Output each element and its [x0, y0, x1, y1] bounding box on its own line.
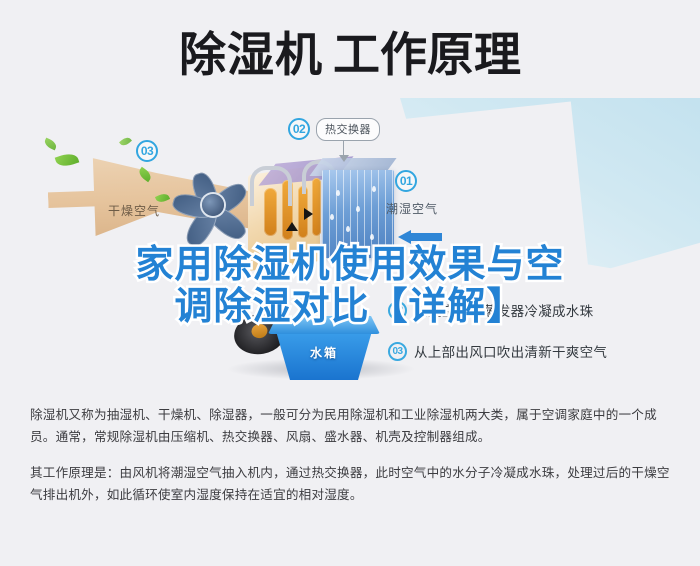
- water-droplet-icon: [356, 206, 360, 212]
- step-list: 02 潮湿空气经蒸发器冷凝成水珠 03 从上部出风口吹出清新干爽空气: [388, 300, 688, 382]
- water-droplet-icon: [372, 186, 376, 192]
- body-paragraph-1: 除湿机又称为抽湿机、干燥机、除湿器，一般可分为民用除湿机和工业除湿机两大类，属于…: [30, 404, 670, 448]
- poster-canvas: 除湿机工作原理 干燥空气: [0, 0, 700, 566]
- humid-air-label: 潮湿空气: [386, 200, 438, 217]
- air-inlet-arrow-icon: [398, 230, 442, 244]
- page-title: 除湿机工作原理: [0, 0, 700, 110]
- illustration-stage: 干燥空气: [0, 108, 700, 400]
- leaf-icon: [55, 151, 80, 169]
- fan-hub: [202, 194, 224, 216]
- step-label: 从上部出风口吹出清新干爽空气: [414, 341, 607, 361]
- water-droplet-icon: [370, 234, 374, 240]
- heat-exchanger-callout: 热交换器: [316, 118, 380, 141]
- dry-air-label: 干燥空气: [108, 202, 160, 219]
- water-tank-label: 水箱: [268, 344, 380, 361]
- badge-03: 03: [136, 140, 158, 162]
- flow-arrow-up-icon: [286, 222, 298, 231]
- title-part-one: 除湿机: [179, 28, 323, 83]
- water-droplet-icon: [346, 226, 350, 232]
- water-tank-icon: 水箱: [268, 316, 380, 382]
- title-part-two: 工作原理: [333, 28, 521, 83]
- badge-01: 01: [395, 170, 417, 192]
- step-badge: 02: [388, 301, 407, 320]
- arrow-shaft: [410, 233, 442, 241]
- article-body: 除湿机又称为抽湿机、干燥机、除湿器，一般可分为民用除湿机和工业除湿机两大类，属于…: [0, 404, 700, 506]
- title-text-group: 除湿机工作原理: [179, 32, 521, 79]
- water-droplet-icon: [336, 190, 340, 196]
- heat-exchanger-block: [312, 156, 396, 264]
- badge-02: 02: [288, 118, 310, 140]
- step-item: 02 潮湿空气经蒸发器冷凝成水珠: [388, 300, 688, 320]
- step-label: 潮湿空气经蒸发器冷凝成水珠: [414, 300, 593, 320]
- leaf-icon: [119, 135, 132, 147]
- arrow-head: [398, 230, 411, 244]
- water-droplet-icon: [330, 214, 334, 220]
- body-paragraph-2: 其工作原理是：由风机将潮湿空气抽入机内，通过热交换器，此时空气中的水分子冷凝成水…: [30, 462, 670, 506]
- leaf-icon: [43, 138, 58, 151]
- refrigerant-pipe: [250, 166, 292, 206]
- water-tank-rim: [268, 316, 380, 334]
- step-item: 03 从上部出风口吹出清新干爽空气: [388, 341, 688, 361]
- step-badge: 03: [388, 342, 407, 361]
